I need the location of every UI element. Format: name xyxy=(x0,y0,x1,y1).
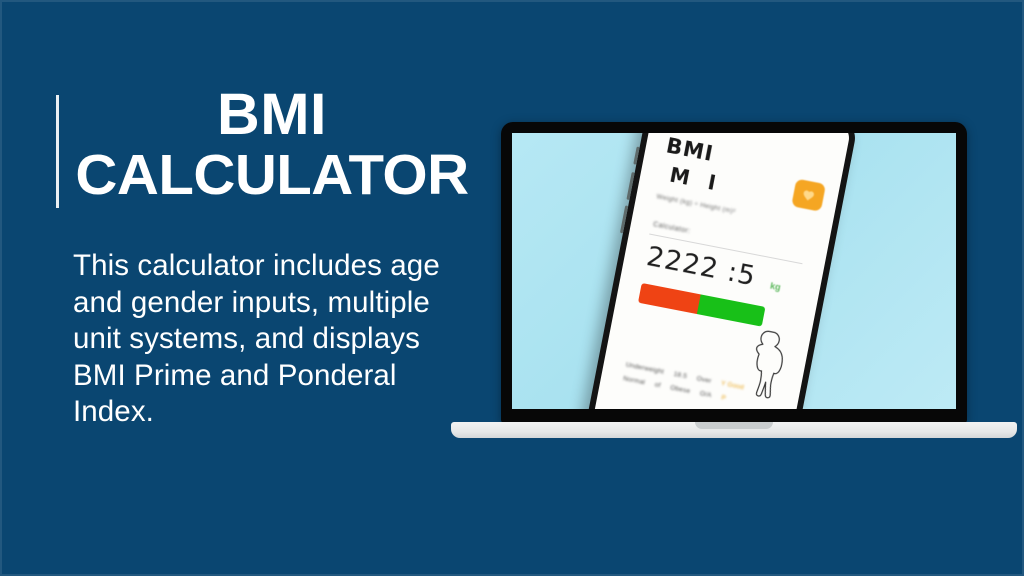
legend-item: Underweight xyxy=(625,361,664,375)
phone-volume-down-button xyxy=(620,205,628,233)
phone-silent-switch xyxy=(633,146,639,164)
text-column: BMI CALCULATOR This calculator includes … xyxy=(0,0,480,576)
legend-item: Obese xyxy=(670,384,691,395)
gauge-segment-low xyxy=(638,283,701,314)
legend-item: O/A xyxy=(699,390,712,399)
legend-item: P xyxy=(721,394,727,402)
legend-item: Over xyxy=(696,375,712,385)
calculator-label: Calculator: xyxy=(652,221,690,235)
title-accent-bar xyxy=(56,95,59,208)
bmi-result-value: 2222 :5 xyxy=(644,242,758,293)
legend-item: 18.5 xyxy=(673,371,688,380)
body-paragraph: This calculator includes age and gender … xyxy=(73,248,463,431)
body-silhouette-icon xyxy=(737,323,797,408)
phone-frame: BMI M I Weight (kg) ÷ Height (m)² Calcul… xyxy=(584,133,859,409)
phone-volume-up-button xyxy=(626,172,634,200)
bmi-result-unit: kg xyxy=(769,281,781,293)
heart-icon[interactable] xyxy=(791,179,826,212)
phone-screen: BMI M I Weight (kg) ÷ Height (m)² Calcul… xyxy=(590,133,851,409)
laptop-screen: BMI M I Weight (kg) ÷ Height (m)² Calcul… xyxy=(512,133,956,409)
legend-item: of xyxy=(654,381,661,389)
page-title: BMI CALCULATOR xyxy=(72,84,472,206)
phone-mockup: BMI M I Weight (kg) ÷ Height (m)² Calcul… xyxy=(584,133,859,409)
title-line-two: CALCULATOR xyxy=(68,145,476,206)
laptop-base-notch xyxy=(695,422,773,429)
laptop-mockup: BMI M I Weight (kg) ÷ Height (m)² Calcul… xyxy=(451,122,1017,442)
gauge-segment-high xyxy=(697,294,765,326)
legend-item: Normal xyxy=(623,375,646,386)
slide-canvas: BMI CALCULATOR This calculator includes … xyxy=(0,0,1024,576)
title-line-one: BMI xyxy=(68,84,476,145)
laptop-lid: BMI M I Weight (kg) ÷ Height (m)² Calcul… xyxy=(501,122,967,423)
